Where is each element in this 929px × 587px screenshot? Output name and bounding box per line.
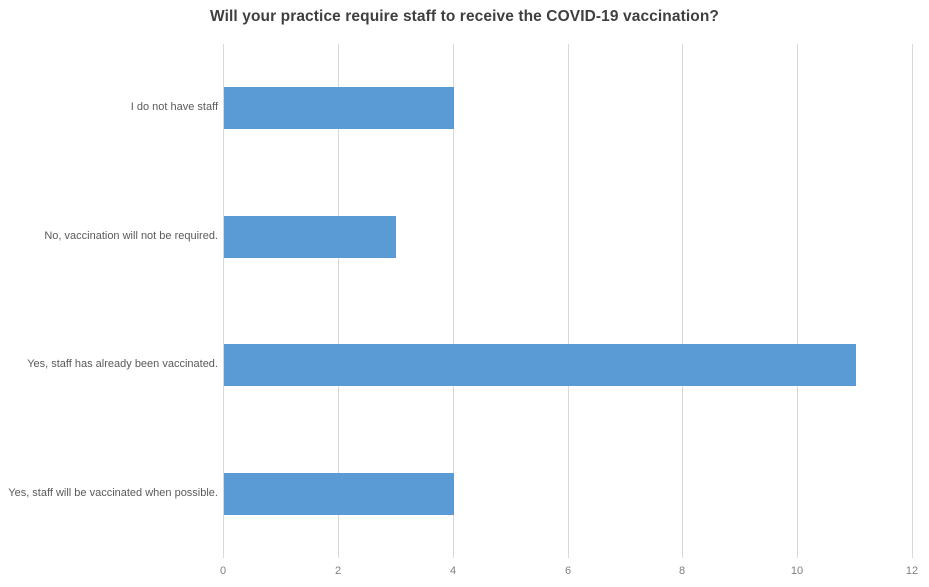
bar [224, 216, 396, 258]
gridline [568, 44, 569, 558]
bar [224, 473, 454, 515]
x-tick-label: 6 [548, 565, 588, 577]
x-tick-label: 8 [662, 565, 702, 577]
chart-title: Will your practice require staff to rece… [0, 8, 929, 26]
bar [224, 344, 856, 386]
gridline [682, 44, 683, 558]
x-tick-label: 0 [203, 565, 243, 577]
x-tick-label: 12 [892, 565, 929, 577]
x-tick-label: 4 [433, 565, 473, 577]
gridline [797, 44, 798, 558]
category-label: I do not have staff [3, 101, 218, 114]
gridline [912, 44, 913, 558]
bar-chart: Will your practice require staff to rece… [0, 0, 929, 587]
plot-area [223, 44, 912, 558]
bar [224, 87, 454, 129]
category-label: Yes, staff will be vaccinated when possi… [3, 487, 218, 500]
x-tick-label: 10 [777, 565, 817, 577]
x-tick-label: 2 [318, 565, 358, 577]
category-label: No, vaccination will not be required. [3, 230, 218, 243]
category-label: Yes, staff has already been vaccinated. [3, 358, 218, 371]
category-axis-labels: I do not have staffNo, vaccination will … [0, 44, 218, 558]
